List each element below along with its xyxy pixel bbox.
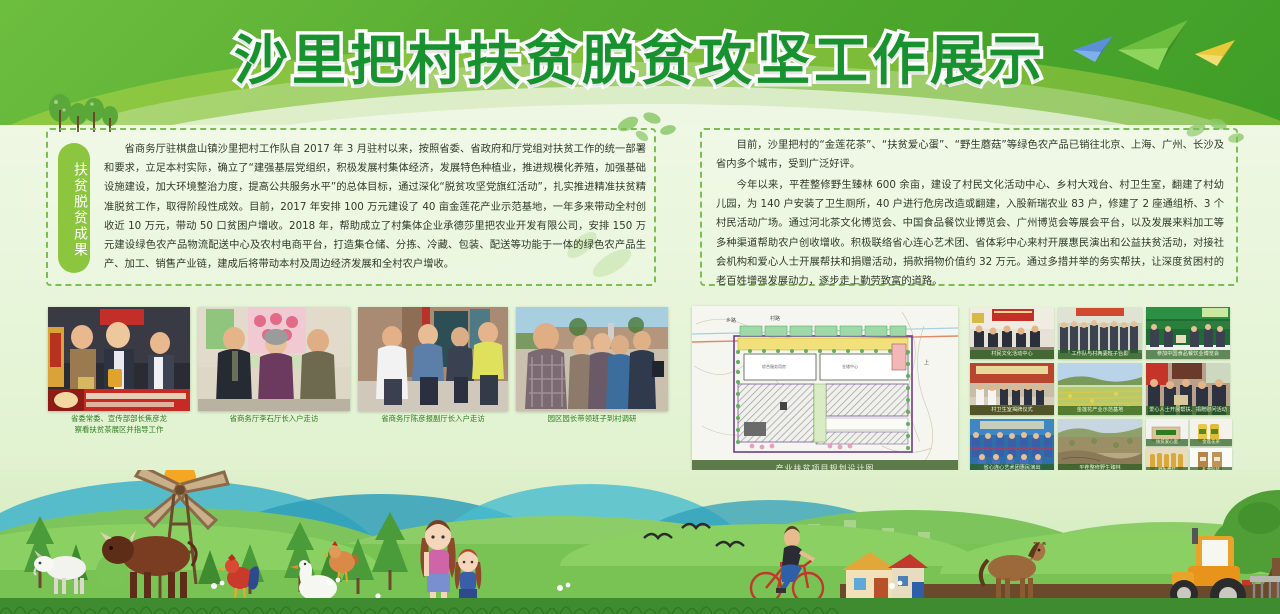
grid-caption: 参加中国食品餐饮业博览会 (1146, 350, 1230, 359)
photo-home-visit-chen (358, 307, 508, 411)
grid-art-troupe: 省心连心艺术团惠民演出 (970, 419, 1054, 473)
photo-caption-3: 省商务厅陈彦报副厅长入户走访 (358, 414, 508, 425)
photo-project-survey (516, 307, 668, 411)
grid-products-b: 金莲花茶 (1190, 419, 1232, 446)
grid-caption: 村民文化活动中心 (970, 350, 1054, 359)
grid-flower-field: 金莲花产业示范基地 (1058, 363, 1142, 415)
grid-caption: 金莲花产业示范基地 (1058, 406, 1142, 415)
grid-group-photo: 工作队与村两委班子合影 (1058, 307, 1142, 359)
grid-donation: 爱心人士开展帮扶、捐赠慰问活动 (1146, 363, 1230, 415)
grid-meeting-room: 村民文化活动中心 (970, 307, 1054, 359)
left-panel-body: 省商务厅驻棋盘山镇沙里把村工作队自 2017 年 3 月驻村以来，按照省委、省政… (104, 140, 646, 274)
grid-caption: 金莲花茶 (1190, 439, 1232, 446)
grid-hillside: 平茬整修野生臻林 (1058, 419, 1142, 473)
grass-strip (0, 598, 1280, 614)
poster-canvas: 沙里把村扶贫脱贫攻坚工作展示 (0, 0, 1280, 614)
svg-text:仓储中心: 仓储中心 (842, 363, 858, 369)
photo-caption-4: 园区园长带领班子到村调研 (516, 414, 668, 425)
grid-health-clinic: 村卫生室揭牌仪式 (970, 363, 1054, 415)
birds-icon (640, 520, 770, 560)
page-title: 沙里把村扶贫脱贫攻坚工作展示 (0, 16, 1280, 95)
site-plan-map: 乡路 村路 上 综合服务用房 仓储中心 产业扶贫项目规划设计图 (692, 306, 958, 478)
grid-caption: 爱心人士开展帮扶、捐赠慰问活动 (1146, 406, 1230, 415)
photo-tv-exhibition (48, 307, 190, 411)
poster-header: 沙里把村扶贫脱贫攻坚工作展示 (0, 0, 1280, 125)
bottom-rural-scene (0, 470, 1280, 614)
svg-text:乡路: 乡路 (726, 317, 736, 324)
photo-caption-1: 省委常委、宣传部部长焦彦龙 察看扶贫茶展区并指导工作 (48, 414, 190, 435)
grid-caption: 工作队与村两委班子合影 (1058, 350, 1142, 359)
svg-text:综合服务用房: 综合服务用房 (762, 363, 786, 369)
grid-caption: 村卫生室揭牌仪式 (970, 406, 1054, 415)
photo-home-visit-li (198, 307, 350, 411)
photo-caption-2: 省商务厅李石厅长入户走访 (198, 414, 350, 425)
left-panel-tab-label: 扶贫脱贫成果 (58, 143, 90, 273)
right-panel-paragraph-2: 今年以来，平茬整修野生臻林 600 余亩，建设了村民文化活动中心、乡村大戏台、村… (716, 176, 1224, 291)
svg-text:上: 上 (924, 359, 929, 366)
grid-caption: 扶贫爱心蛋 (1146, 439, 1188, 446)
right-panel-paragraph-1: 目前，沙里把村的“金莲花茶”、“扶贫爱心蛋”、“野生蘑菇”等绿色农产品已销往北京… (716, 136, 1224, 174)
svg-text:村路: 村路 (770, 315, 780, 322)
grid-products-a: 扶贫爱心蛋 (1146, 419, 1188, 446)
grid-expo-booth: 参加中国食品餐饮业博览会 (1146, 307, 1230, 359)
